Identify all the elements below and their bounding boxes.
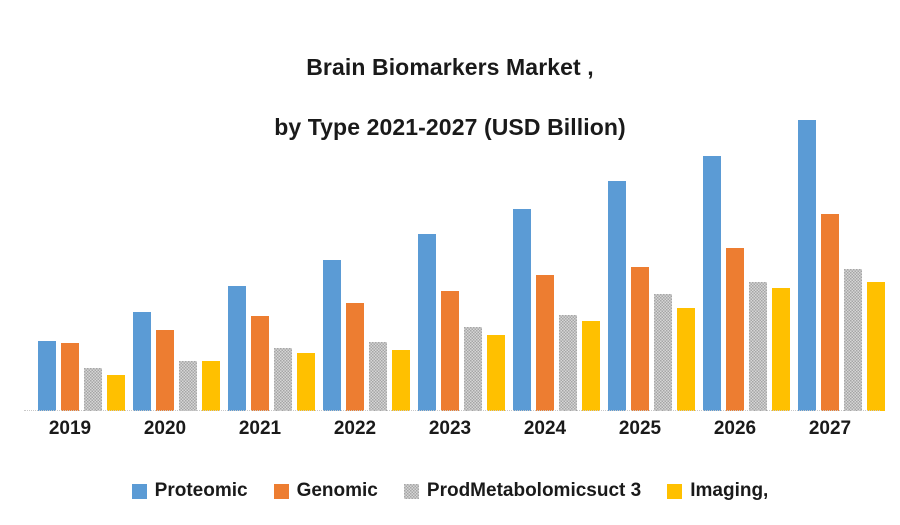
legend-swatch-icon <box>404 484 419 499</box>
bar[interactable] <box>369 342 387 411</box>
bar[interactable] <box>844 269 862 411</box>
bar[interactable] <box>61 343 79 411</box>
chart-title-line-1: Brain Biomarkers Market , <box>306 54 594 80</box>
bar[interactable] <box>251 316 269 411</box>
legend-item[interactable]: ProdMetabolomicsuct 3 <box>404 480 641 502</box>
bar[interactable] <box>631 267 649 411</box>
bar[interactable] <box>654 294 672 411</box>
bar-chart: Brain Biomarkers Market , by Type 2021-2… <box>0 0 900 525</box>
bar[interactable] <box>133 312 151 411</box>
bar-group <box>119 110 211 411</box>
bar[interactable] <box>513 209 531 411</box>
x-axis-tick-labels: 201920202021202220232024202520262027 <box>0 418 900 450</box>
category-axis-line <box>24 410 880 412</box>
legend-label: Proteomic <box>155 480 248 502</box>
bar[interactable] <box>84 368 102 411</box>
bar-group <box>594 110 686 411</box>
bar[interactable] <box>228 286 246 411</box>
legend-label: Genomic <box>297 480 378 502</box>
x-axis-tick-label: 2021 <box>214 418 306 440</box>
bar[interactable] <box>179 361 197 411</box>
bar[interactable] <box>346 303 364 411</box>
bar-group <box>309 110 401 411</box>
legend-swatch-icon <box>132 484 147 499</box>
bar-group <box>499 110 591 411</box>
bar-group <box>214 110 306 411</box>
bar[interactable] <box>156 330 174 411</box>
legend-label: ProdMetabolomicsuct 3 <box>427 480 641 502</box>
bar[interactable] <box>274 348 292 411</box>
bar[interactable] <box>38 341 56 411</box>
bar-groups <box>0 110 900 411</box>
bar[interactable] <box>559 315 577 411</box>
legend-item[interactable]: Imaging, <box>667 480 768 502</box>
bar[interactable] <box>418 234 436 411</box>
bar[interactable] <box>726 248 744 411</box>
bar[interactable] <box>798 120 816 411</box>
chart-legend: ProteomicGenomicProdMetabolomicsuct 3Ima… <box>0 476 900 506</box>
legend-item[interactable]: Genomic <box>274 480 378 502</box>
bar-group <box>689 110 781 411</box>
x-axis-tick-label: 2024 <box>499 418 591 440</box>
x-axis-tick-label: 2026 <box>689 418 781 440</box>
legend-swatch-icon <box>667 484 682 499</box>
bar[interactable] <box>464 327 482 411</box>
bar-group <box>24 110 116 411</box>
plot-area <box>0 110 900 412</box>
x-axis-tick-label: 2025 <box>594 418 686 440</box>
bar[interactable] <box>821 214 839 411</box>
x-axis-tick-label: 2019 <box>24 418 116 440</box>
bar[interactable] <box>536 275 554 411</box>
x-axis-tick-label: 2023 <box>404 418 496 440</box>
bar-group <box>784 110 876 411</box>
legend-label: Imaging, <box>690 480 768 502</box>
bar[interactable] <box>703 156 721 411</box>
x-axis-tick-label: 2027 <box>784 418 876 440</box>
bar[interactable] <box>323 260 341 411</box>
legend-item[interactable]: Proteomic <box>132 480 248 502</box>
bar[interactable] <box>867 282 885 411</box>
bar[interactable] <box>749 282 767 411</box>
bar[interactable] <box>441 291 459 411</box>
bar[interactable] <box>608 181 626 411</box>
x-axis-tick-label: 2020 <box>119 418 211 440</box>
legend-swatch-icon <box>274 484 289 499</box>
x-axis-tick-label: 2022 <box>309 418 401 440</box>
bar-group <box>404 110 496 411</box>
